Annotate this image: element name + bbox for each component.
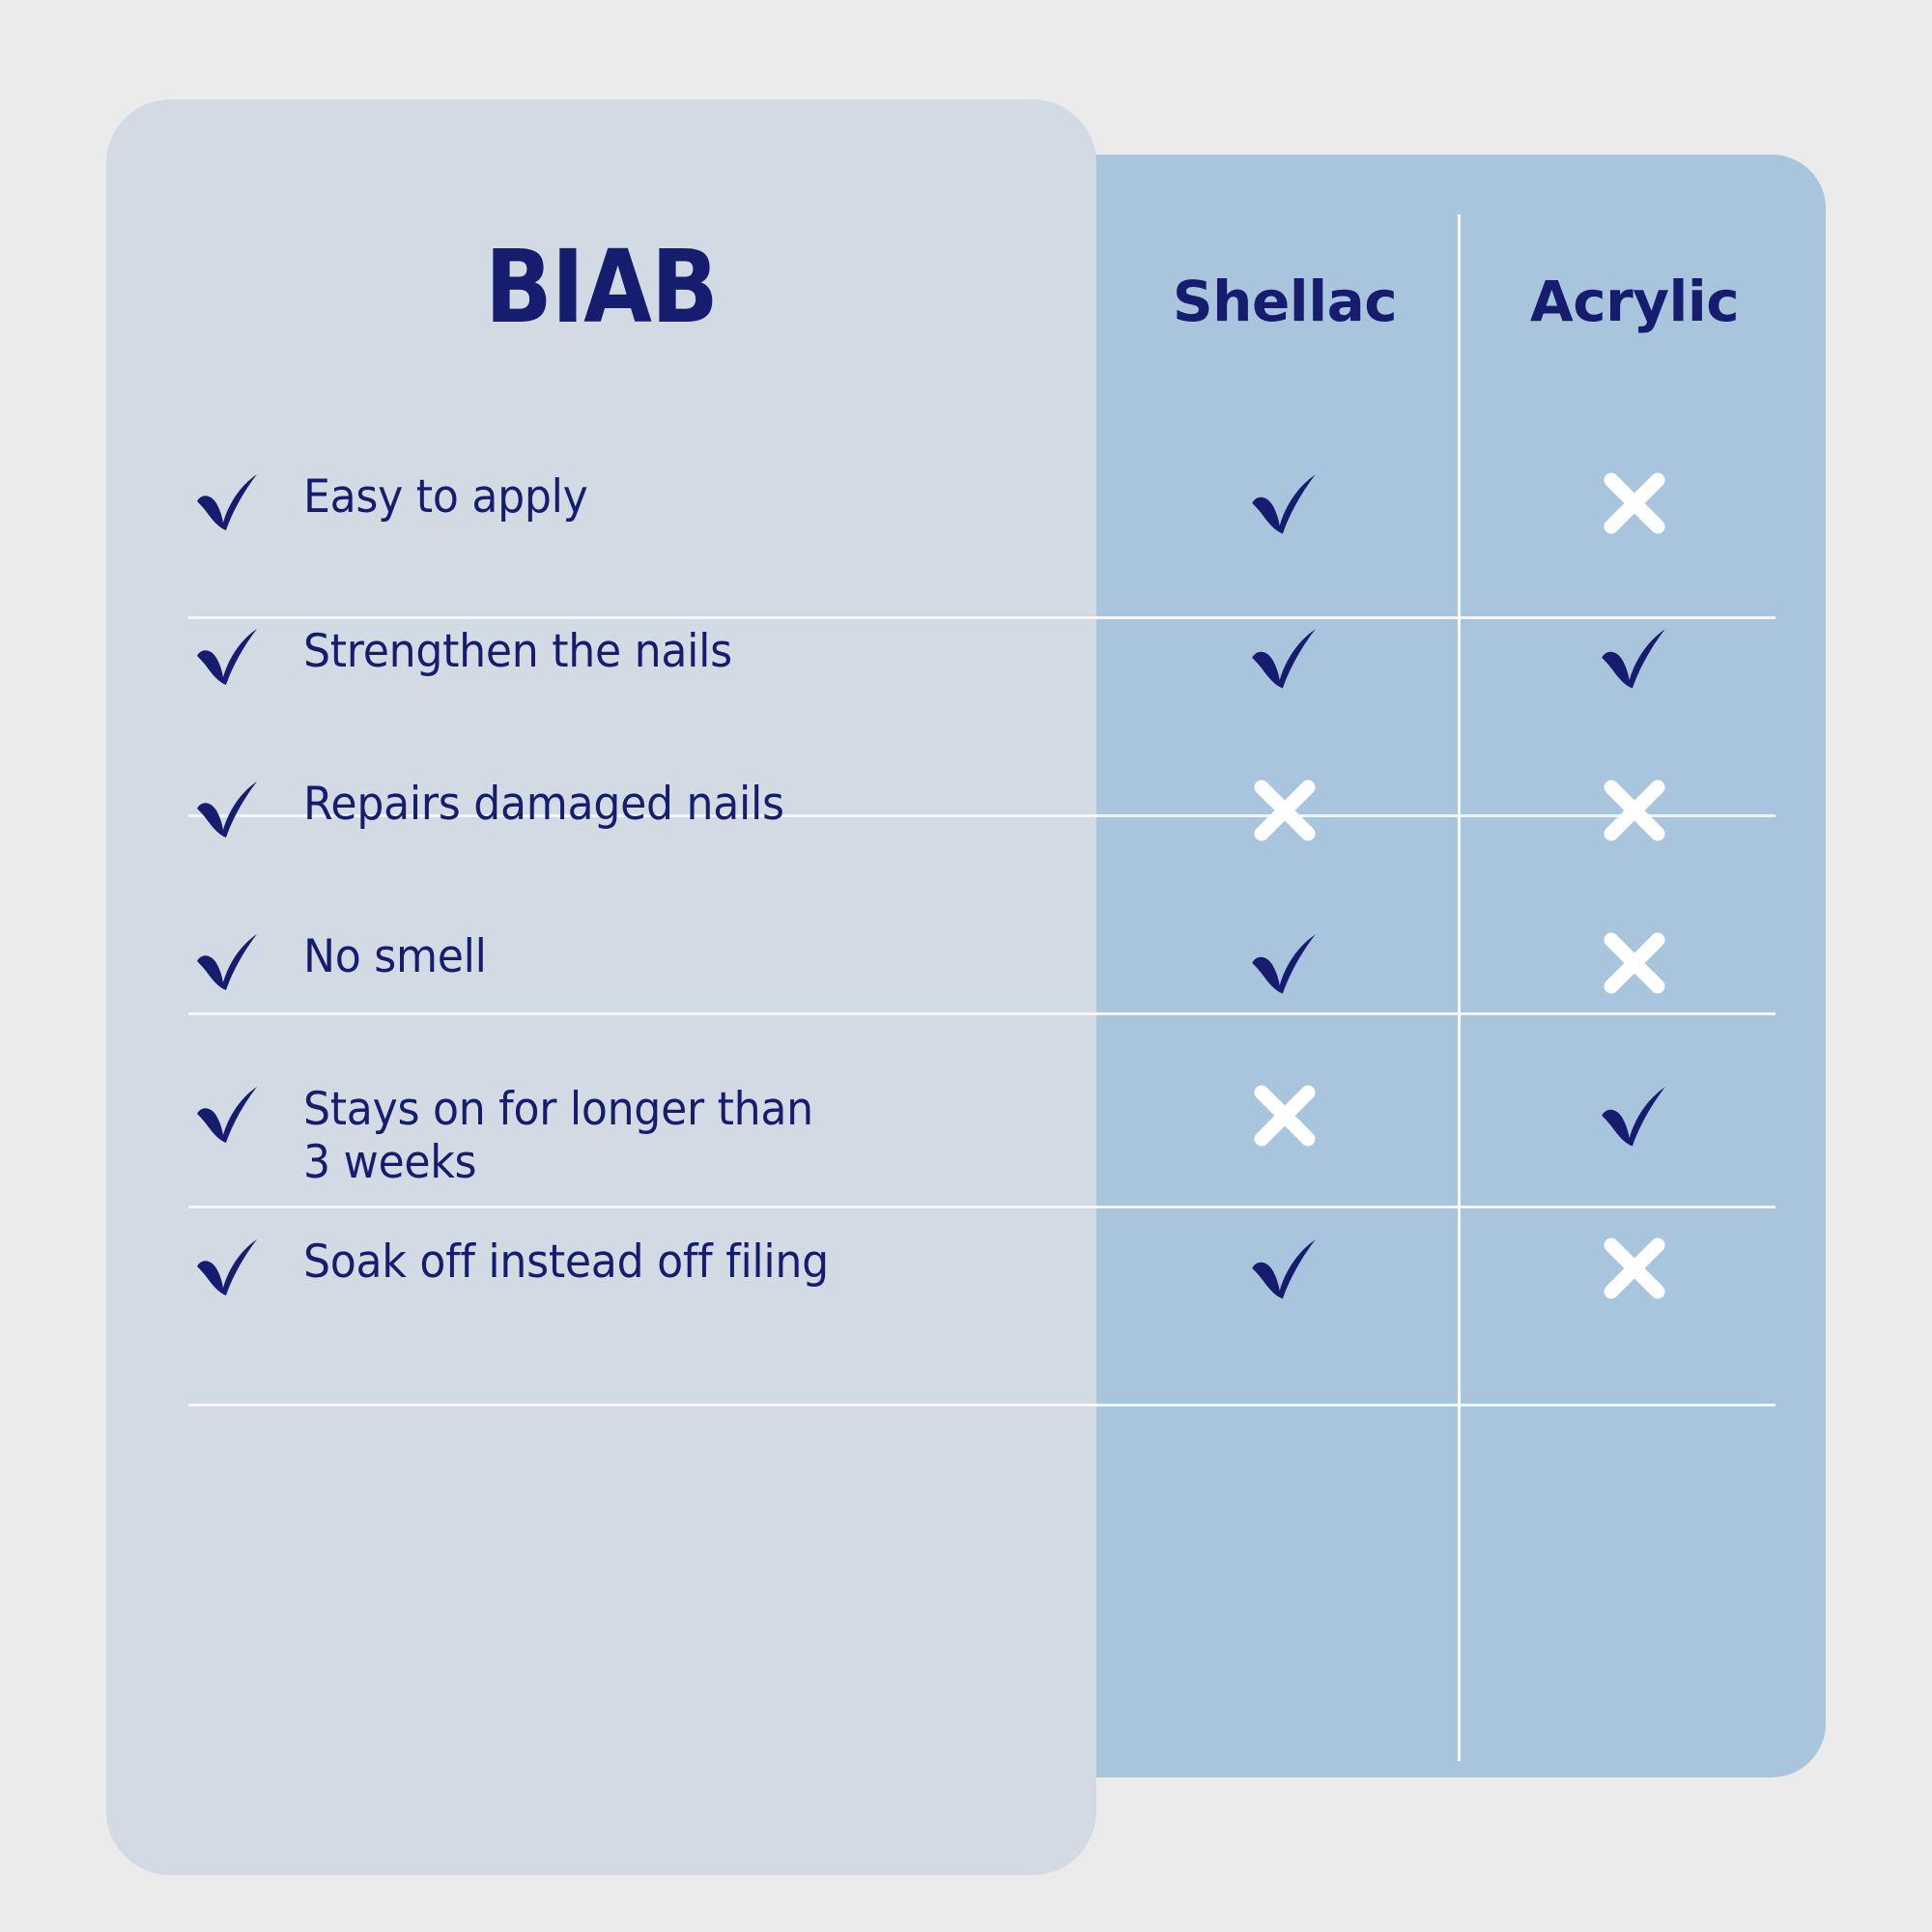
mark-acrylic-row-3 [1461, 776, 1808, 845]
feature-label: Soak off instead off filing [303, 1234, 829, 1289]
check-icon [193, 1234, 263, 1303]
comparison-infographic: BIAB Shellac Acrylic Easy to apply [0, 0, 1932, 1932]
cross-icon [1250, 776, 1320, 845]
row-divider-3 [188, 1012, 1776, 1015]
cross-icon [1250, 1081, 1320, 1151]
check-icon [1248, 1234, 1321, 1307]
feature-label: Easy to apply [303, 469, 588, 524]
check-icon [1248, 928, 1321, 1002]
mark-acrylic-row-2 [1461, 623, 1808, 696]
column-header-acrylic: Acrylic [1461, 273, 1808, 329]
check-icon [193, 928, 263, 998]
check-icon [193, 623, 263, 693]
row-divider-4 [188, 1206, 1776, 1208]
check-icon [193, 469, 263, 538]
feature-cell-biab: Repairs damaged nails [193, 776, 815, 845]
mark-shellac-row-3 [1111, 776, 1459, 845]
check-icon [193, 776, 263, 845]
row-divider-1 [188, 616, 1776, 619]
feature-label: Stays on for longer than 3 weeks [303, 1081, 813, 1190]
mark-shellac-row-1 [1111, 469, 1459, 542]
row-divider-5 [188, 1404, 1776, 1406]
feature-label: No smell [303, 928, 487, 983]
mark-acrylic-row-1 [1461, 469, 1808, 538]
check-icon [1598, 623, 1671, 696]
check-icon [1248, 469, 1321, 542]
cross-icon [1600, 928, 1669, 998]
mark-acrylic-row-5 [1461, 1081, 1808, 1154]
page-title: BIAB [166, 237, 1037, 337]
mark-shellac-row-4 [1111, 928, 1459, 1002]
feature-cell-biab: Easy to apply [193, 469, 606, 538]
mark-shellac-row-6 [1111, 1234, 1459, 1307]
check-icon [1248, 623, 1321, 696]
feature-cell-biab: Strengthen the nails [193, 623, 759, 693]
cross-icon [1600, 1234, 1669, 1303]
mark-shellac-row-2 [1111, 623, 1459, 696]
check-icon [193, 1081, 263, 1151]
cross-icon [1600, 469, 1669, 538]
mark-acrylic-row-4 [1461, 928, 1808, 998]
check-icon [1598, 1081, 1671, 1154]
cross-icon [1600, 776, 1669, 845]
column-header-shellac: Shellac [1111, 273, 1459, 329]
mark-acrylic-row-6 [1461, 1234, 1808, 1303]
feature-cell-biab: No smell [193, 928, 498, 998]
feature-label: Repairs damaged nails [303, 776, 784, 831]
feature-cell-biab: Stays on for longer than 3 weeks [193, 1081, 846, 1190]
feature-label: Strengthen the nails [303, 623, 732, 678]
feature-cell-biab: Soak off instead off filing [193, 1234, 863, 1303]
mark-shellac-row-5 [1111, 1081, 1459, 1151]
